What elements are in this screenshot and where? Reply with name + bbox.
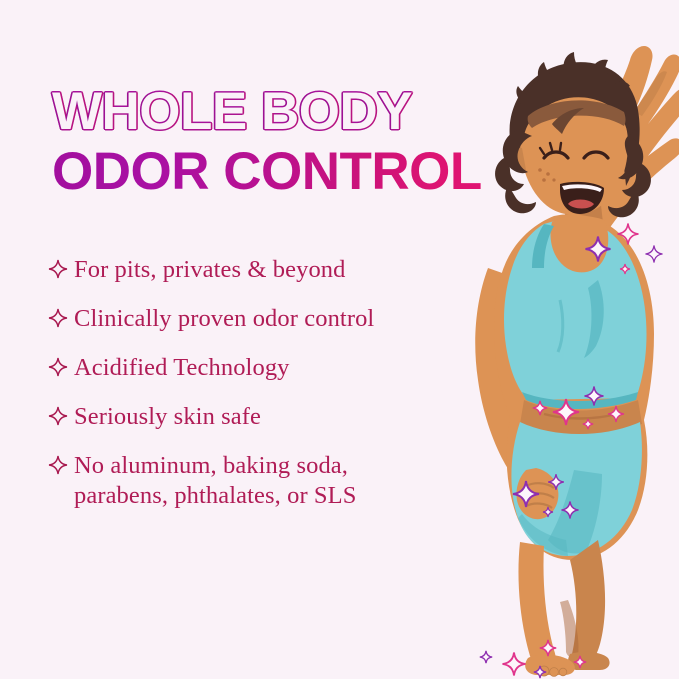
list-item: Clinically proven odor control — [48, 304, 468, 334]
sparkle-bullet-icon — [48, 304, 74, 328]
headline-line-2-text: ODOR CONTROL — [52, 142, 512, 202]
sparkle-bullet-icon — [48, 451, 74, 475]
sparkle-bullet-icon — [48, 402, 74, 426]
sparkle-bullet-icon — [48, 255, 74, 279]
feature-list: For pits, privates & beyond Clinically p… — [48, 255, 468, 530]
list-item: No aluminum, baking soda, parabens, phth… — [48, 451, 468, 511]
list-item-label: Acidified Technology — [74, 353, 290, 383]
list-item: For pits, privates & beyond — [48, 255, 468, 285]
headline-line-2: ODOR CONTROL — [52, 142, 512, 202]
promo-image: WHOLE BODY ODOR CONTROL For pits, privat… — [0, 0, 679, 679]
list-item: Acidified Technology — [48, 353, 468, 383]
list-item-label: For pits, privates & beyond — [74, 255, 346, 285]
list-item: Seriously skin safe — [48, 402, 468, 432]
list-item-label: Seriously skin safe — [74, 402, 261, 432]
headline-line-1: WHOLE BODY — [52, 82, 412, 142]
list-item-label: No aluminum, baking soda, parabens, phth… — [74, 451, 356, 511]
headline-block: WHOLE BODY ODOR CONTROL — [52, 82, 512, 202]
sparkle-bullet-icon — [48, 353, 74, 377]
list-item-label: Clinically proven odor control — [74, 304, 374, 334]
headline-line-1-text: WHOLE BODY — [52, 82, 412, 142]
woman-illustration — [448, 0, 679, 679]
